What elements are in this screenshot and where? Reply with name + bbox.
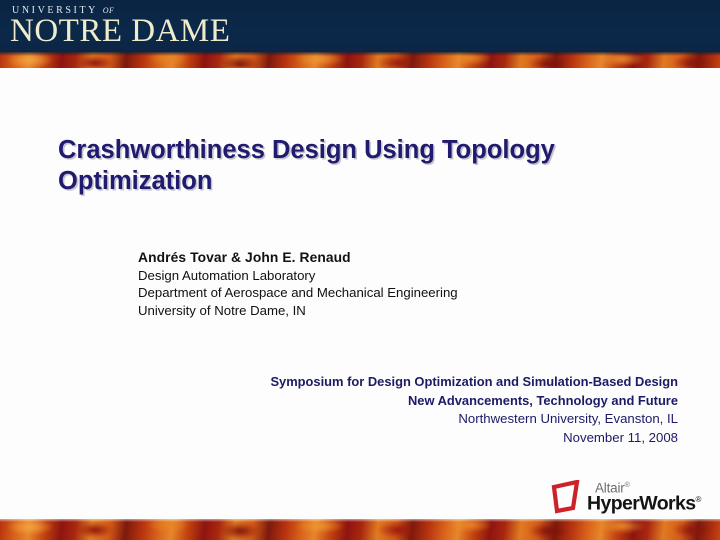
event-venue: Northwestern University, Evanston, IL xyxy=(270,410,678,429)
presentation-title-slide: UNIVERSITY of NOTRE DAME Crashworthiness… xyxy=(0,0,720,540)
hyperworks-product-text: HyperWorks® xyxy=(587,490,701,514)
author-block: Andrés Tovar & John E. Renaud Design Aut… xyxy=(138,249,458,319)
event-title-line-1: Symposium for Design Optimization and Si… xyxy=(270,373,678,392)
top-autumn-leaves-strip xyxy=(0,52,720,68)
event-date: November 11, 2008 xyxy=(270,429,678,448)
leaf-strip-highlight xyxy=(0,519,720,522)
altair-hyperworks-logo: Altair® HyperWorks® xyxy=(551,478,691,516)
altair-registered-mark: ® xyxy=(625,482,630,489)
author-names: Andrés Tovar & John E. Renaud xyxy=(138,249,458,267)
author-affiliation-department: Department of Aerospace and Mechanical E… xyxy=(138,284,458,302)
notre-dame-header-band: UNIVERSITY of NOTRE DAME xyxy=(0,0,720,52)
leaf-strip-shadow xyxy=(0,52,720,56)
author-affiliation-lab: Design Automation Laboratory xyxy=(138,267,458,285)
altair-quadrilateral-icon xyxy=(551,480,585,514)
event-title-line-2: New Advancements, Technology and Future xyxy=(270,392,678,411)
author-affiliation-university: University of Notre Dame, IN xyxy=(138,302,458,320)
event-block: Symposium for Design Optimization and Si… xyxy=(270,373,678,447)
page-title: Crashworthiness Design Using Topology Op… xyxy=(58,135,618,197)
leaf-overlay-texture-bottom xyxy=(0,519,720,540)
notre-dame-wordmark: NOTRE DAME xyxy=(10,14,230,48)
hyperworks-product-label: HyperWorks xyxy=(587,493,696,515)
hyperworks-registered-mark: ® xyxy=(696,495,701,504)
bottom-autumn-leaves-strip xyxy=(0,519,720,540)
